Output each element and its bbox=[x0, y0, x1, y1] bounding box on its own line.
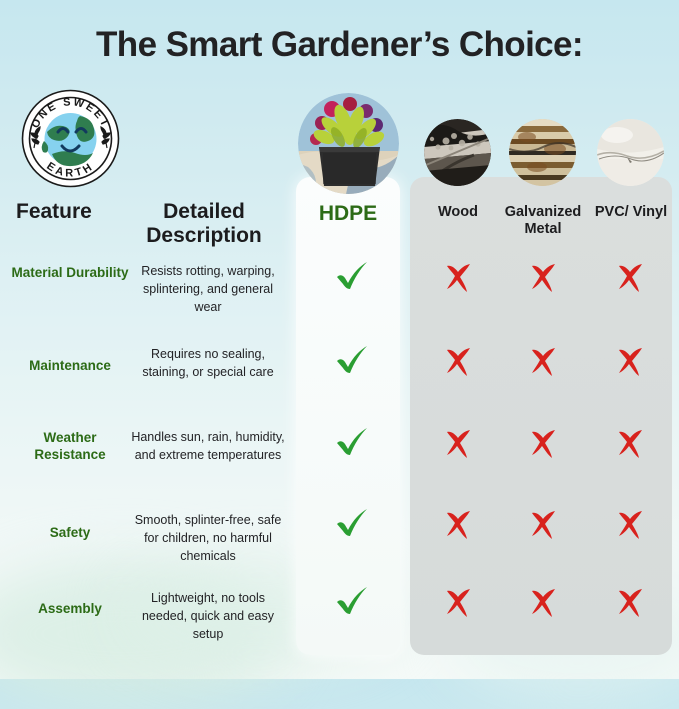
red-cross-icon bbox=[435, 419, 481, 465]
header-description: Detailed Description bbox=[120, 200, 288, 249]
feature-description: Smooth, splinter-free, safe for children… bbox=[128, 511, 288, 565]
red-cross-icon bbox=[520, 337, 566, 383]
infographic-canvas: The Smart Gardener’s Choice: bbox=[0, 0, 679, 679]
red-cross-icon bbox=[607, 578, 653, 624]
feature-name: Maintenance bbox=[8, 358, 132, 375]
green-check-icon bbox=[329, 500, 375, 546]
red-cross-icon bbox=[435, 578, 481, 624]
red-cross-icon bbox=[520, 253, 566, 299]
feature-name: Weather Resistance bbox=[8, 430, 132, 464]
red-cross-icon bbox=[607, 500, 653, 546]
feature-name: Safety bbox=[8, 525, 132, 542]
green-check-icon bbox=[329, 419, 375, 465]
feature-name: Material Durability bbox=[8, 265, 132, 282]
red-cross-icon bbox=[520, 578, 566, 624]
one-sweet-earth-logo: ONE SWEET EARTH bbox=[20, 88, 121, 189]
feature-name: Assembly bbox=[8, 601, 132, 618]
green-check-icon bbox=[329, 578, 375, 624]
red-cross-icon bbox=[520, 419, 566, 465]
red-cross-icon bbox=[435, 337, 481, 383]
header-feature: Feature bbox=[16, 200, 136, 224]
red-cross-icon bbox=[607, 419, 653, 465]
green-check-icon bbox=[329, 337, 375, 383]
red-cross-icon bbox=[607, 337, 653, 383]
feature-description: Requires no sealing, staining, or specia… bbox=[128, 345, 288, 381]
red-cross-icon bbox=[435, 500, 481, 546]
red-cross-icon bbox=[520, 500, 566, 546]
feature-description: Resists rotting, warping, splintering, a… bbox=[128, 262, 288, 316]
green-check-icon bbox=[329, 253, 375, 299]
column-label-galvanized: Galvanized Metal bbox=[502, 204, 584, 237]
feature-description: Handles sun, rain, humidity, and extreme… bbox=[128, 428, 288, 464]
rusted-galvanized-metal-photo bbox=[509, 119, 576, 186]
feature-description: Lightweight, no tools needed, quick and … bbox=[128, 589, 288, 643]
cracked-pvc-photo bbox=[597, 119, 664, 186]
red-cross-icon bbox=[607, 253, 653, 299]
page-title: The Smart Gardener’s Choice: bbox=[0, 27, 679, 62]
column-label-pvc: PVC/ Vinyl bbox=[592, 204, 670, 221]
red-cross-icon bbox=[435, 253, 481, 299]
hdpe-planter-photo bbox=[298, 93, 399, 194]
column-label-wood: Wood bbox=[419, 204, 497, 221]
rotted-wood-photo bbox=[424, 119, 491, 186]
column-label-hdpe: HDPE bbox=[296, 202, 400, 226]
